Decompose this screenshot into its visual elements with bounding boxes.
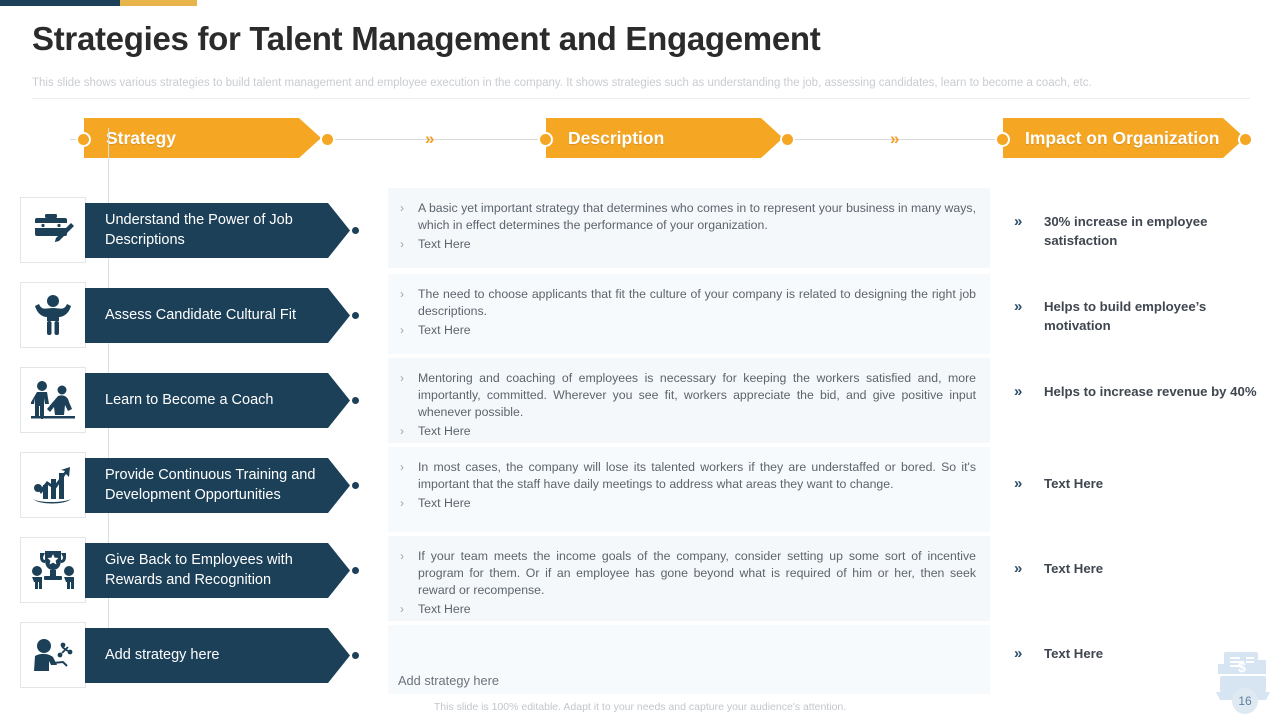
node-dot-impact-right: [1240, 134, 1251, 145]
node-dot-impact-left: [997, 134, 1008, 145]
impact-text: Text Here: [1044, 474, 1270, 493]
bullet-arrow-icon: ›: [400, 601, 418, 618]
description-bullet: › In most cases, the company will lose i…: [400, 459, 976, 493]
page-title: Strategies for Talent Management and Eng…: [32, 20, 820, 58]
banner-description[interactable]: Description: [546, 118, 783, 158]
description-placeholder-text: Add strategy here: [388, 625, 990, 688]
strategy-row[interactable]: Add strategy here: [0, 628, 380, 683]
strategy-arrow[interactable]: Give Back to Employees with Rewards and …: [85, 543, 350, 598]
node-dot-strategy-left: [78, 134, 89, 145]
banner-strategy-label: Strategy: [84, 128, 176, 149]
description-row[interactable]: › The need to choose applicants that fit…: [388, 274, 990, 354]
description-bullet: › The need to choose applicants that fit…: [400, 286, 976, 320]
impact-item[interactable]: » Helps to build employee’s motivation: [1000, 297, 1270, 335]
strategy-row[interactable]: Provide Continuous Training and Developm…: [0, 458, 380, 513]
bullet-arrow-icon: ›: [400, 322, 418, 339]
description-text: Text Here: [418, 322, 976, 339]
impact-item[interactable]: » 30% increase in employee satisfaction: [1000, 212, 1270, 250]
description-row[interactable]: › Mentoring and coaching of employees is…: [388, 358, 990, 443]
trophy-team-icon: [20, 537, 86, 603]
bullet-arrow-icon: ›: [400, 423, 418, 440]
strategy-endpoint-dot: [352, 227, 359, 234]
description-bullet: › Text Here: [400, 423, 976, 440]
connector-line-b: [330, 139, 555, 140]
strategy-row[interactable]: Assess Candidate Cultural Fit: [0, 288, 380, 343]
bullet-arrow-icon: ›: [400, 286, 418, 303]
impact-item[interactable]: » Text Here: [1000, 474, 1270, 493]
description-bullet: › Mentoring and coaching of employees is…: [400, 370, 976, 421]
header-divider: [32, 98, 1250, 99]
node-dot-strategy-right: [322, 134, 333, 145]
impact-text: Helps to build employee’s motivation: [1044, 297, 1270, 335]
person-arms-raised-icon: [20, 282, 86, 348]
banner-description-label: Description: [546, 128, 664, 149]
banner-strategy[interactable]: Strategy: [84, 118, 321, 158]
banner-impact-label: Impact on Organization: [1003, 128, 1219, 149]
strategy-person-icon: [20, 622, 86, 688]
strategy-label: Provide Continuous Training and Developm…: [85, 466, 350, 505]
page-subtitle: This slide shows various strategies to b…: [32, 77, 1252, 89]
description-row[interactable]: › If your team meets the income goals of…: [388, 536, 990, 621]
description-text: Text Here: [418, 423, 976, 440]
strategy-arrow[interactable]: Learn to Become a Coach: [85, 373, 350, 428]
node-dot-description-right: [782, 134, 793, 145]
description-text: Text Here: [418, 236, 976, 253]
coach-training-icon: [20, 367, 86, 433]
description-bullet: › Text Here: [400, 236, 976, 253]
strategy-row[interactable]: Understand the Power of Job Descriptions: [0, 203, 380, 258]
bullet-arrow-icon: ›: [400, 548, 418, 565]
description-text: A basic yet important strategy that dete…: [418, 200, 976, 234]
column-header-row: » » Strategy Description Impact on Organ…: [0, 118, 1280, 162]
strategy-endpoint-dot: [352, 312, 359, 319]
description-bullet: › Text Here: [400, 322, 976, 339]
bullet-arrow-icon: ›: [400, 200, 418, 217]
double-chevron-icon-2: »: [890, 129, 896, 149]
double-chevron-icon: »: [1000, 644, 1044, 663]
strategy-label: Understand the Power of Job Descriptions: [85, 211, 350, 250]
accent-bar-navy: [0, 0, 120, 6]
growth-chart-icon: [20, 452, 86, 518]
strategy-arrow[interactable]: Add strategy here: [85, 628, 350, 683]
strategy-label: Add strategy here: [85, 646, 253, 665]
description-row-placeholder[interactable]: Add strategy here: [388, 625, 990, 694]
bullet-arrow-icon: ›: [400, 370, 418, 387]
page-number-badge: 16: [1232, 688, 1258, 714]
footer-note: This slide is 100% editable. Adapt it to…: [0, 701, 1280, 713]
strategy-arrow[interactable]: Assess Candidate Cultural Fit: [85, 288, 350, 343]
bullet-arrow-icon: ›: [400, 459, 418, 476]
impact-item[interactable]: » Text Here: [1000, 559, 1270, 578]
strategy-endpoint-dot: [352, 567, 359, 574]
strategy-label: Assess Candidate Cultural Fit: [85, 306, 330, 325]
strategy-endpoint-dot: [352, 397, 359, 404]
briefcase-pencil-icon: [20, 197, 86, 263]
description-row[interactable]: › A basic yet important strategy that de…: [388, 188, 990, 268]
strategy-column: Understand the Power of Job Descriptions…: [0, 175, 380, 695]
double-chevron-icon: »: [1000, 474, 1044, 493]
description-text: If your team meets the income goals of t…: [418, 548, 976, 599]
strategy-endpoint-dot: [352, 652, 359, 659]
impact-column: » 30% increase in employee satisfaction …: [1000, 188, 1270, 694]
double-chevron-icon: »: [1000, 212, 1044, 231]
bullet-arrow-icon: ›: [400, 236, 418, 253]
impact-text: Text Here: [1044, 559, 1270, 578]
strategy-row[interactable]: Learn to Become a Coach: [0, 373, 380, 428]
strategy-label: Learn to Become a Coach: [85, 391, 307, 410]
impact-text: 30% increase in employee satisfaction: [1044, 212, 1270, 250]
double-chevron-icon: »: [1000, 297, 1044, 316]
svg-text:$: $: [1238, 659, 1246, 675]
description-bullet: › If your team meets the income goals of…: [400, 548, 976, 599]
description-column: › A basic yet important strategy that de…: [388, 188, 990, 694]
description-text: Text Here: [418, 601, 976, 618]
description-bullet: › Text Here: [400, 495, 976, 512]
impact-item[interactable]: » Helps to increase revenue by 40%: [1000, 382, 1270, 401]
description-text: Text Here: [418, 495, 976, 512]
description-bullet: › Text Here: [400, 601, 976, 618]
node-dot-description-left: [540, 134, 551, 145]
description-row[interactable]: › In most cases, the company will lose i…: [388, 447, 990, 532]
double-chevron-icon: »: [1000, 382, 1044, 401]
strategy-arrow[interactable]: Provide Continuous Training and Developm…: [85, 458, 350, 513]
strategy-label: Give Back to Employees with Rewards and …: [85, 551, 350, 590]
description-text: The need to choose applicants that fit t…: [418, 286, 976, 320]
banner-impact-on-organization[interactable]: Impact on Organization: [1003, 118, 1245, 158]
description-text: Mentoring and coaching of employees is n…: [418, 370, 976, 421]
bullet-arrow-icon: ›: [400, 495, 418, 512]
double-chevron-icon: »: [1000, 559, 1044, 578]
description-text: In most cases, the company will lose its…: [418, 459, 976, 493]
description-bullet: › A basic yet important strategy that de…: [400, 200, 976, 234]
strategy-arrow[interactable]: Understand the Power of Job Descriptions: [85, 203, 350, 258]
strategy-row[interactable]: Give Back to Employees with Rewards and …: [0, 543, 380, 598]
strategy-endpoint-dot: [352, 482, 359, 489]
accent-bar-gold: [120, 0, 197, 6]
impact-text: Helps to increase revenue by 40%: [1044, 382, 1270, 401]
double-chevron-icon-1: »: [425, 129, 431, 149]
